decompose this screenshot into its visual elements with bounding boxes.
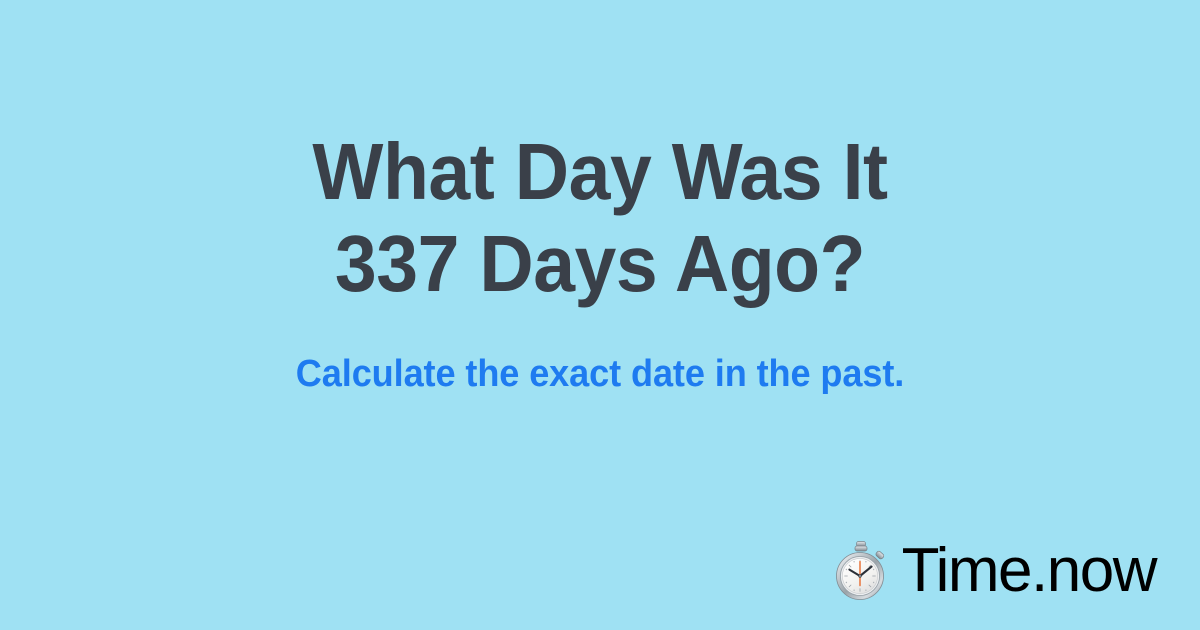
headline-line-1: What Day Was It [36, 126, 1164, 218]
headline-line-2: 337 Days Ago? [36, 218, 1164, 310]
social-share-card: What Day Was It 337 Days Ago? Calculate … [0, 0, 1200, 630]
stopwatch-icon [832, 541, 890, 601]
page-subtitle: Calculate the exact date in the past. [30, 352, 1170, 396]
brand-logo: Time.now [832, 540, 1156, 602]
page-title: What Day Was It 337 Days Ago? [36, 126, 1164, 310]
brand-name: Time.now [902, 540, 1156, 602]
